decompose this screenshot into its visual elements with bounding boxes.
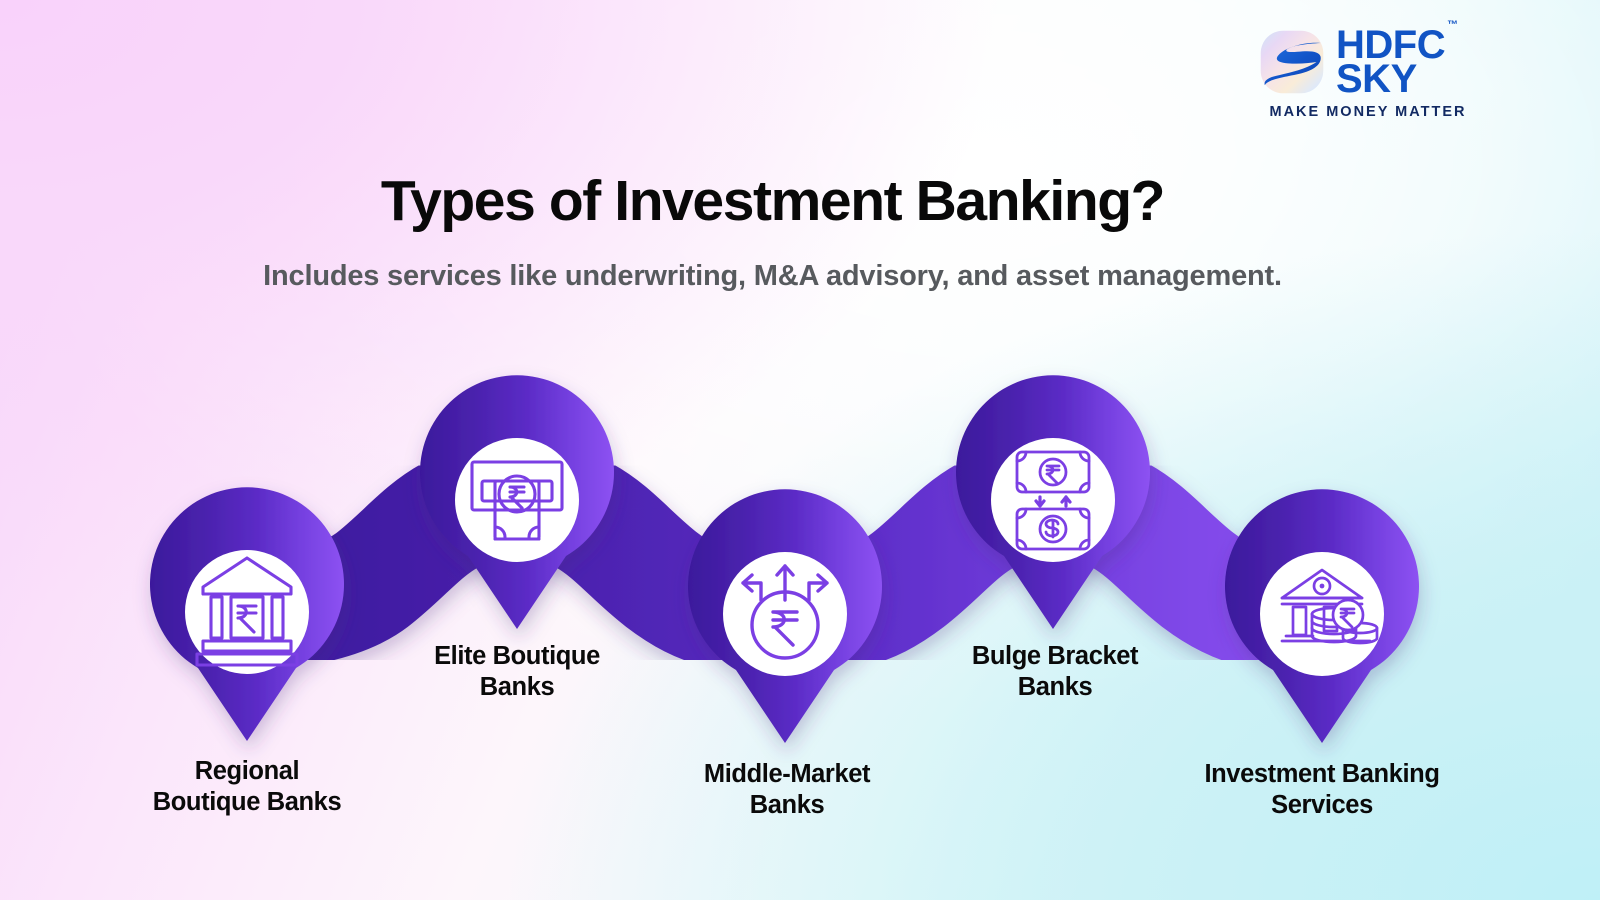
flow-step-bulge-bracket-banks[interactable] xyxy=(956,375,1150,629)
infographic-canvas: HDFC SKY ™ MAKE MONEY MATTER Types of In… xyxy=(0,0,1600,900)
flow-step-investment-banking-services[interactable] xyxy=(1225,489,1419,743)
step-label-elite-boutique-banks: Elite Boutique Banks xyxy=(362,641,672,703)
flow-step-elite-boutique-banks[interactable] xyxy=(420,375,614,629)
pin-face-4 xyxy=(991,438,1115,562)
flow-step-regional-boutique-banks[interactable] xyxy=(150,487,344,741)
step-label-investment-banking-services: Investment Banking Services xyxy=(1152,759,1492,821)
flow-step-middle-market-banks[interactable] xyxy=(688,489,882,743)
step-label-regional-boutique-banks: Regional Boutique Banks xyxy=(92,756,402,818)
step-label-bulge-bracket-banks: Bulge Bracket Banks xyxy=(900,641,1210,703)
step-label-middle-market-banks: Middle-Market Banks xyxy=(632,759,942,821)
